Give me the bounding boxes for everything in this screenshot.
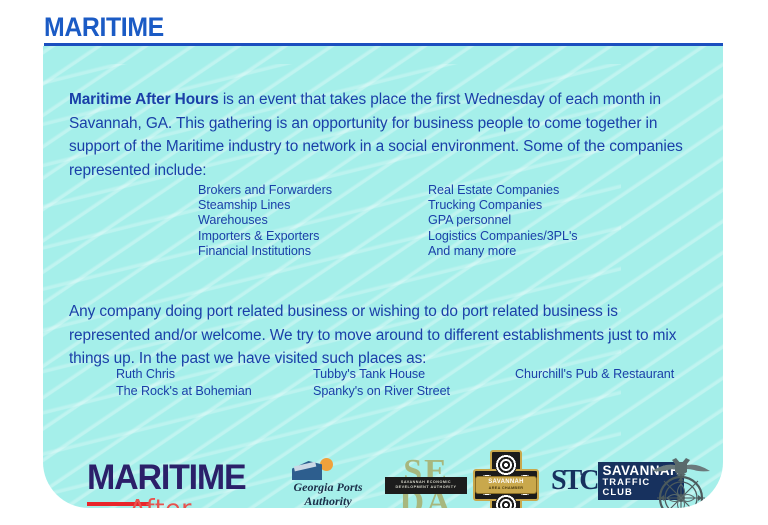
gpa-name-line1: Georgia Ports [280, 481, 376, 494]
maritime-after-hours-logo: MARITIME After Hours [87, 462, 262, 508]
company-column-left: Brokers and Forwarders Steamship Lines W… [198, 183, 388, 259]
list-item: Financial Institutions [198, 244, 388, 259]
list-item: Trucking Companies [428, 198, 578, 213]
list-item: Steamship Lines [198, 198, 388, 213]
eagle-and-ships-wheel-icon [646, 450, 716, 508]
seda-band-line2: DEVELOPMENT AUTHORITY [385, 485, 467, 490]
intro-lead: Maritime After Hours [69, 91, 219, 108]
company-column-right: Real Estate Companies Trucking Companies… [428, 183, 578, 259]
propeller-club-logo [646, 450, 716, 508]
gpa-name-line2: Authority [280, 495, 376, 508]
company-list: Brokers and Forwarders Steamship Lines W… [198, 183, 578, 259]
gpa-ship-sun-icon [280, 458, 376, 480]
list-item: Warehouses [198, 213, 388, 228]
chamber-banner: SAVANNAH AREA CHAMBER [475, 476, 537, 494]
list-item: Logistics Companies/3PL's [428, 229, 578, 244]
list-item: The Rock's at Bohemian [116, 383, 313, 400]
list-item: Tubby's Tank House [313, 366, 515, 383]
list-item: Real Estate Companies [428, 183, 578, 198]
savannah-area-chamber-logo: SAVANNAH AREA CHAMBER [473, 450, 539, 508]
page-title: MARITIME [44, 12, 164, 43]
list-item: Churchill's Pub & Restaurant [515, 366, 674, 383]
list-item: GPA personnel [428, 213, 578, 228]
seda-logo: SE DA SAVANNAH ECONOMIC DEVELOPMENT AUTH… [388, 454, 464, 508]
stc-monogram: STC [551, 468, 598, 494]
after-hours-script: After Hours [129, 494, 262, 508]
list-item: Importers & Exporters [198, 229, 388, 244]
venue-column-1: Ruth Chris The Rock's at Bohemian [116, 366, 313, 399]
chamber-cross-icon: SAVANNAH AREA CHAMBER [473, 450, 539, 508]
list-item: Ruth Chris [116, 366, 313, 383]
chamber-line1: SAVANNAH [476, 479, 536, 486]
maritime-wordmark: MARITIME [87, 462, 257, 494]
content-panel: Maritime After Hours is an event that ta… [43, 46, 723, 508]
logo-row: MARITIME After Hours Georgia Ports [43, 414, 723, 504]
georgia-ports-authority-logo: Georgia Ports Authority REDEFINING THE F… [280, 458, 376, 508]
intro-paragraph: Maritime After Hours is an event that ta… [69, 88, 711, 182]
venue-column-2: Tubby's Tank House Spanky's on River Str… [313, 366, 515, 399]
seda-name-band: SAVANNAH ECONOMIC DEVELOPMENT AUTHORITY [385, 477, 467, 494]
list-item: Brokers and Forwarders [198, 183, 388, 198]
welcome-paragraph: Any company doing port related business … [69, 300, 701, 371]
venue-list: Ruth Chris The Rock's at Bohemian Tubby'… [116, 366, 674, 399]
list-item: And many more [428, 244, 578, 259]
chamber-line2: AREA CHAMBER [476, 486, 536, 491]
venue-column-3: Churchill's Pub & Restaurant [515, 366, 674, 399]
list-item: Spanky's on River Street [313, 383, 515, 400]
